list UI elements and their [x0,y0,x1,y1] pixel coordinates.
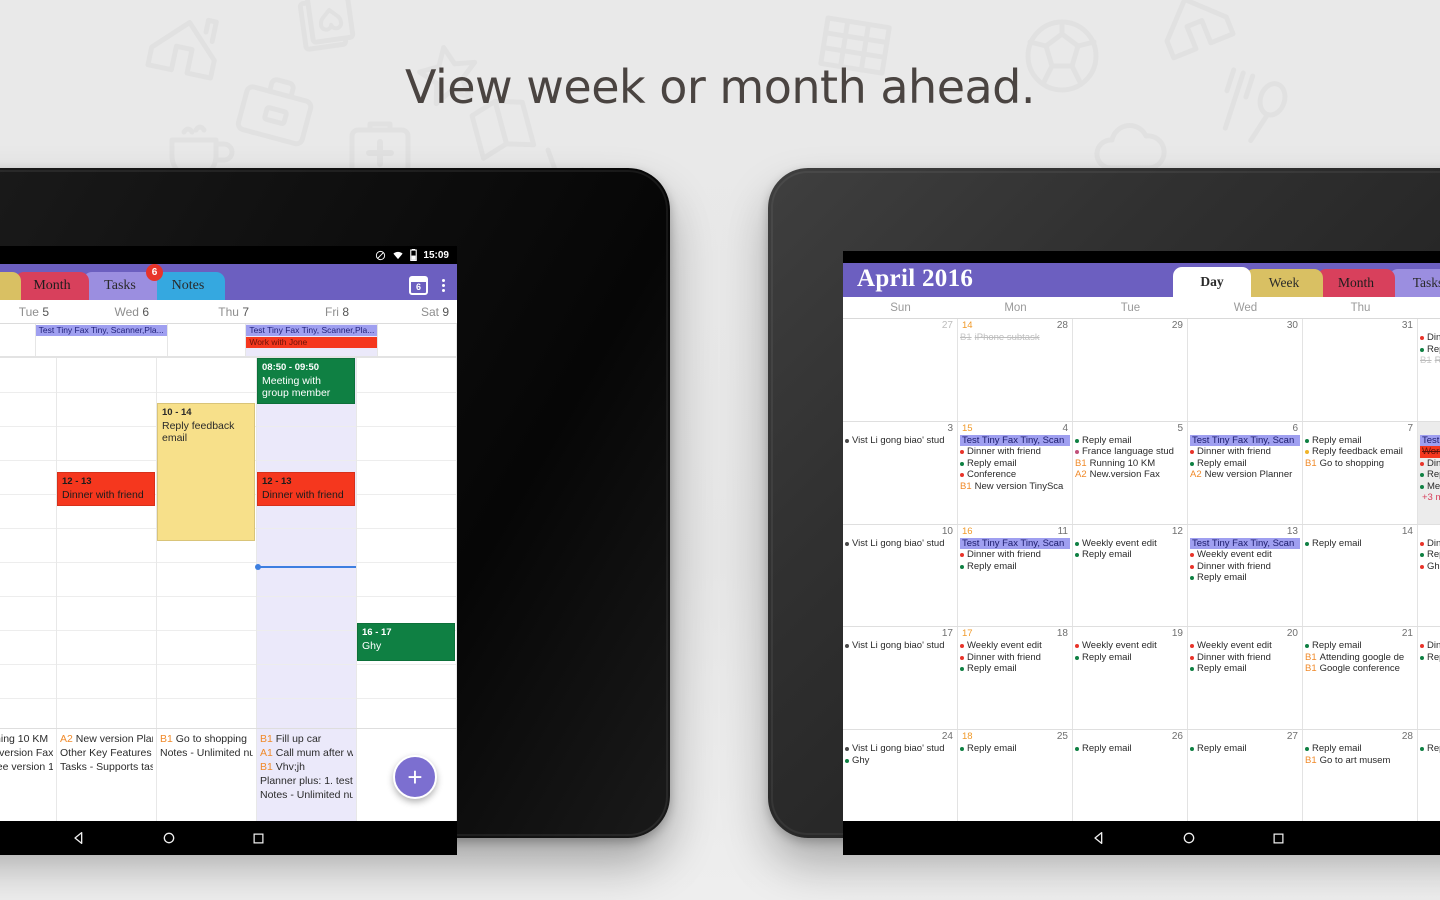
task-text: Go to shopping [176,733,247,745]
calendar-event[interactable]: 16 - 17Ghy [357,623,455,661]
task-item[interactable]: About free version 1. Witho [0,760,53,774]
task-item[interactable]: Planner plus: 1. testing ca [260,774,353,788]
calendar-event[interactable]: 12 - 13Dinner with friend [57,472,155,506]
task-text: New.version Fax [0,747,53,759]
month-event-item[interactable]: Weekly event edit [1190,549,1300,561]
month-event-item[interactable]: Reply email [1420,652,1440,664]
event-color-dot [1420,485,1424,489]
tab-day[interactable]: Day [1173,267,1251,297]
month-day-number: 18 [1057,628,1070,639]
month-day-number: 25 [1057,731,1070,742]
month-grid[interactable]: 271428B1iPhone subtask2930311Dinner with… [843,319,1440,821]
recents-icon[interactable] [1271,831,1286,846]
month-event-item[interactable]: Reply email [1305,435,1415,447]
event-color-dot [1075,439,1079,443]
month-day-cell[interactable]: 24Vist Li gong biao' studGhy [843,730,958,821]
month-event-item[interactable]: Reply email [1075,435,1185,447]
item-text: Meeting with group m [1427,481,1440,493]
item-text: France language stud [1082,446,1174,458]
month-day-header: 19 [1075,628,1185,640]
right-tablet-device: April 2016 Day Week Month Tasks 6 Notes … [768,168,1440,838]
month-day-cell[interactable]: 1718Weekly event editDinner with friendR… [958,627,1073,729]
month-event-item[interactable]: France language stud [1075,446,1185,458]
event-title: Meeting with group member [262,375,330,400]
month-event-item[interactable]: Vist Li gong biao' stud [845,640,955,652]
month-day-cell[interactable]: 12Weekly event editReply email [1073,525,1188,627]
tab-month[interactable]: Month [15,272,89,300]
calendar-event[interactable]: 12 - 13Dinner with friend [257,472,355,506]
month-day-cell[interactable]: 3Vist Li gong biao' stud [843,422,958,524]
month-event-item[interactable]: Reply email [960,663,1070,675]
month-event-item[interactable]: Dinner with friend [960,652,1070,664]
task-item[interactable]: B1 Vhv;jh [260,760,353,774]
month-week-row: 10Vist Li gong biao' stud1611Test Tiny F… [843,525,1440,628]
task-item[interactable]: Tasks - Supports tasks an [60,760,153,774]
month-day-cell[interactable]: 20Weekly event editDinner with friendRep… [1188,627,1303,729]
task-priority: B1 [1075,458,1087,470]
page-title: View week or month ahead. [0,60,1440,114]
event-color-dot [1190,656,1194,660]
allday-event-chip[interactable]: Test Tiny Fax Tiny, Scanner,Pla... [246,325,377,336]
month-event-item[interactable]: Reply email [1305,538,1415,550]
month-day-number: 12 [1172,526,1185,537]
event-time: 12 - 13 [262,476,350,489]
month-event-item[interactable]: Reply email [1190,663,1300,675]
event-color-dot [1075,553,1079,557]
month-event-item[interactable]: Dinner with friend [1420,458,1440,470]
month-day-number: 6 [1292,423,1300,434]
month-event-item[interactable]: Vist Li gong biao' stud [845,435,955,447]
hour-gridlines [57,358,156,728]
task-priority: A2 [60,733,73,745]
task-text: New version Planner [76,733,153,745]
month-event-item[interactable]: Dinner with friend [1420,538,1440,550]
day-task-cell[interactable]: B1 Go to shoppingNotes - Unlimited numbe… [157,729,257,821]
event-color-dot [1190,450,1194,454]
item-text: Test Tiny Fax Tiny, Scan [962,435,1064,447]
item-text: New.version Fax [1090,469,1160,481]
month-day-number: 14 [1402,526,1415,537]
day-task-cell[interactable]: A2 New version PlannerOther Key Features… [57,729,157,821]
task-priority: B1 [1305,663,1317,675]
month-day-cell[interactable]: 19Weekly event editReply email [1073,627,1188,729]
month-day-header: 1611 [960,526,1070,538]
month-event-item[interactable]: Reply email [1075,549,1185,561]
week-day-number: 6 [142,305,149,319]
item-text: Reply email [1197,572,1247,584]
home-icon[interactable] [161,830,177,846]
month-event-item[interactable]: Reply email [1075,652,1185,664]
task-priority: B1 [160,733,173,745]
item-text: Go to art musem [1320,755,1391,767]
hour-gridlines [357,358,456,728]
item-text: Dinner with friend [967,446,1041,458]
week-day-column[interactable]: 12 - 13Dinner with friend [57,358,157,728]
event-time: 12 - 13 [62,476,150,489]
wifi-icon [392,250,404,261]
month-day-header: 154 [960,423,1070,435]
month-day-number: 30 [1287,320,1300,331]
week-day-number: 5 [42,305,49,319]
task-priority: B1 [1305,458,1317,470]
allday-cell[interactable] [168,324,247,356]
task-text: Tasks - Supports tasks an [60,761,153,773]
month-event-item[interactable]: Weekly event edit [1075,538,1185,550]
month-task-item[interactable]: A2New version Planner [1190,469,1300,481]
month-event-item[interactable]: Reply email [1075,743,1185,755]
month-day-header: 15 [1420,526,1440,538]
month-day-cell[interactable]: 28Reply emailB1Go to art musem [1303,730,1418,821]
task-item[interactable]: A2 New.version Fax [0,746,53,760]
week-time-grid[interactable]: 15:30 - 16:30France language study12 - 1… [0,358,457,728]
event-color-dot [1075,656,1079,660]
month-event-item[interactable]: Dinner with friend [1420,640,1440,652]
day-task-cell[interactable]: B1 Fill up carA1 Call mum after work.B1 … [257,729,357,821]
task-item[interactable]: B1 Go to shopping [160,732,253,746]
event-color-dot [1420,553,1424,557]
month-event-item[interactable]: Test Tiny Fax Tiny, Scan [1190,538,1300,550]
month-event-item[interactable]: Dinner with friend [1190,561,1300,573]
month-day-number: 10 [942,526,955,537]
tab-tasks[interactable]: Tasks 6 [83,272,157,300]
week-day-name: Tue [19,305,43,319]
month-day-cell[interactable]: 5Reply emailFrance language studB1Runnin… [1073,422,1188,524]
allday-event-chip[interactable]: Test Tiny Fax Tiny, Scanner,Pla... [36,325,167,336]
month-day-number: 7 [1407,423,1415,434]
tab-month[interactable]: Month [1317,269,1395,297]
overflow-menu-icon[interactable] [442,279,445,292]
week-day-header[interactable]: Fri 8 [257,300,357,323]
week-day-header[interactable]: Tue 5 [0,300,57,323]
month-day-cell[interactable]: 154Test Tiny Fax Tiny, ScanDinner with f… [958,422,1073,524]
left-tabbar: Day Week Month Tasks 6 Notes [0,264,219,300]
item-text: Reply email [1082,652,1132,664]
event-title: Dinner with friend [262,489,344,501]
event-color-dot [1420,565,1424,569]
today-calendar-icon[interactable]: 6 [409,276,428,295]
month-day-cell[interactable]: 7Reply emailReply feedback emailB1Go to … [1303,422,1418,524]
month-day-cell[interactable]: 14Reply email [1303,525,1418,627]
week-day-header[interactable]: Thu 7 [157,300,257,323]
month-day-header: 21 [1305,628,1415,640]
month-day-header: 27 [1190,731,1300,743]
tab-week[interactable]: Week [1245,269,1323,297]
month-event-item[interactable]: Dinner with friend [1190,446,1300,458]
left-toolbar: Day Week Month Tasks 6 Notes 6 [0,264,457,300]
month-task-item[interactable]: B1Go to art musem [1305,755,1415,767]
task-item[interactable]: A1 Call mum after work. [260,746,353,760]
month-task-item[interactable]: B1Attending google de [1305,652,1415,664]
month-day-cell[interactable]: 21Reply emailB1Attending google deB1Goog… [1303,627,1418,729]
item-text: Dinner with friend [1427,458,1440,470]
month-weekday-label: Wed [1188,297,1303,318]
left-tablet-device: 15:09 Day Week Month Tasks 6 Notes 6 Mon… [0,168,670,838]
month-event-item[interactable]: Reply email [960,743,1070,755]
item-text: New version Planner [1205,469,1293,481]
month-weekday-header: SunMonTueWedThuFri [843,297,1440,319]
month-event-item[interactable]: Test Tiny Fax Tiny, Scan [960,538,1070,550]
month-day-header: 3 [845,423,955,435]
month-event-item[interactable]: Gh [1420,561,1440,573]
allday-cell[interactable] [378,324,457,356]
week-day-number: 8 [342,305,349,319]
month-day-cell[interactable]: 1611Test Tiny Fax Tiny, ScanDinner with … [958,525,1073,627]
month-day-cell[interactable]: 26Reply email [1073,730,1188,821]
month-weekday-label: Fri [1418,297,1440,318]
month-event-item[interactable]: Reply feedback email [1305,446,1415,458]
task-item[interactable]: Notes - Unlimited number [160,746,253,760]
month-week-row: 271428B1iPhone subtask2930311Dinner with… [843,319,1440,422]
month-task-item[interactable]: B1Google conference [1305,663,1415,675]
item-text: Test Tiny Fax Tiny, Scan [1192,435,1294,447]
month-event-item[interactable]: Vist Li gong biao' stud [845,538,955,550]
month-day-cell[interactable]: 29Reply email [1418,730,1440,821]
month-event-item[interactable]: Reply email [1190,458,1300,470]
item-text: Weekly event edit [1082,538,1157,550]
item-text: Attending google de [1320,652,1405,664]
event-time: 16 - 17 [362,627,450,640]
month-event-item[interactable]: Dinner with friend [960,549,1070,561]
month-day-cell[interactable]: 17Vist Li gong biao' stud [843,627,958,729]
event-color-dot [1075,747,1079,751]
month-day-header: 5 [1075,423,1185,435]
month-task-item[interactable]: B1Running 10 KM [1075,458,1185,470]
item-text: Work with Jone [1422,446,1440,458]
month-event-item[interactable]: Test Tiny Fax Tiny, Scan [1420,435,1440,447]
item-text: Go to shopping [1320,458,1384,470]
week-day-column[interactable]: 10 - 14Reply feedback email [157,358,257,728]
statusbar-clock: 15:09 [423,250,449,261]
event-time: 08:50 - 09:50 [262,362,350,375]
lunar-day-number: 15 [962,423,973,434]
month-day-number: 26 [1172,731,1185,742]
day-task-cell[interactable]: B1 Running 10 KMA2 New.version FaxAbout … [0,729,57,821]
item-text: Gh [1427,561,1440,573]
month-event-item[interactable]: Meeting with group m [1420,481,1440,493]
task-item[interactable]: Notes - Unlimited number [260,788,353,802]
month-day-cell[interactable]: 27Reply email [1188,730,1303,821]
back-icon[interactable] [71,830,87,846]
tab-month-label: Month [33,278,70,294]
month-day-number: 4 [1062,423,1070,434]
month-day-cell[interactable]: 1825Reply email [958,730,1073,821]
month-day-cell[interactable]: 29 [1073,319,1188,421]
item-text: Reply email [1312,538,1362,550]
event-color-dot [1190,667,1194,671]
month-event-item[interactable]: Reply email [1305,640,1415,652]
task-item[interactable]: Other Key Features - Day, [60,746,153,760]
item-text: Dinner with friend [1197,652,1271,664]
event-color-dot [1075,450,1079,454]
item-text: Vist Li gong biao' stud [852,640,944,652]
month-day-header: 27 [845,320,955,332]
week-day-header[interactable]: Wed 6 [57,300,157,323]
month-event-item[interactable]: Weekly event edit [1190,640,1300,652]
allday-cell[interactable] [0,324,36,356]
task-priority: B1 [260,733,273,745]
item-text: Dinner with friend [967,549,1041,561]
tab-tasks-label: Tasks [1413,275,1440,291]
left-tablet-screen: 15:09 Day Week Month Tasks 6 Notes 6 Mon… [0,246,457,821]
allday-cell[interactable]: Test Tiny Fax Tiny, Scanner,Pla...Work w… [246,324,378,356]
month-event-item[interactable]: Ghy [845,755,955,767]
item-text: Dinner with friend [1427,640,1440,652]
lunar-day-number: 18 [962,731,973,742]
month-event-item[interactable]: Reply email [960,458,1070,470]
item-text: Reply email [1312,640,1362,652]
month-day-number: 13 [1287,526,1300,537]
month-day-cell[interactable]: 15Dinner with friendReply emailGh [1418,525,1440,627]
lunar-day-number: 17 [962,628,973,639]
event-color-dot [1305,439,1309,443]
month-task-item[interactable]: B1Go to shopping [1305,458,1415,470]
item-text: Weekly event edit [1197,640,1272,652]
item-text: Reply email [967,561,1017,573]
tab-week[interactable]: Week [0,272,21,300]
event-color-dot [1075,644,1079,648]
allday-cell[interactable]: Test Tiny Fax Tiny, Scanner,Pla... [36,324,168,356]
task-priority: A2 [1190,469,1202,481]
item-text: Reply email [1427,344,1440,356]
week-day-column[interactable]: 16 - 17Ghy [357,358,457,728]
tab-tasks[interactable]: Tasks 6 [1389,269,1440,297]
month-event-item[interactable]: Reply email [1190,743,1300,755]
month-day-header: 29 [1075,320,1185,332]
event-color-dot [1420,348,1424,352]
calendar-event[interactable]: 10 - 14Reply feedback email [157,403,255,541]
month-day-header: 1825 [960,731,1070,743]
month-event-item[interactable]: Reply email [1305,743,1415,755]
month-event-item[interactable]: Reply email [1190,572,1300,584]
month-day-header: 20 [1190,628,1300,640]
month-day-cell[interactable]: 22Dinner with friendReply email [1418,627,1440,729]
task-text: Fill up car [276,733,322,745]
task-item[interactable]: B1 Running 10 KM [0,732,53,746]
week-day-number: 9 [442,305,449,319]
item-text: Reply email [1197,663,1247,675]
month-event-item[interactable]: Reply email [1420,549,1440,561]
right-tablet-screen: April 2016 Day Week Month Tasks 6 Notes … [843,251,1440,821]
month-event-item[interactable]: Dinner with friend [1420,332,1440,344]
month-day-cell[interactable]: 13Test Tiny Fax Tiny, ScanWeekly event e… [1188,525,1303,627]
month-event-item[interactable]: Work with Jone [1420,446,1440,458]
event-color-dot [1420,656,1424,660]
recents-icon[interactable] [251,831,266,846]
do-not-disturb-icon [375,250,386,261]
month-event-item[interactable]: Reply email [1420,469,1440,481]
current-time-indicator [257,566,356,568]
week-day-column[interactable] [0,358,57,728]
event-color-dot [960,553,964,557]
week-day-name: Fri [325,305,342,319]
month-event-item[interactable]: Weekly event edit [1075,640,1185,652]
month-task-item[interactable]: B1New version TinySca [960,481,1070,493]
month-day-cell[interactable]: 6Test Tiny Fax Tiny, ScanDinner with fri… [1188,422,1303,524]
tasks-badge: 6 [146,264,163,281]
month-day-number: 20 [1287,628,1300,639]
item-text: Reply email [967,458,1017,470]
task-priority: B1 [260,761,273,773]
item-text: Test Tiny Fax Tiny, Scan [1192,538,1294,550]
month-event-item[interactable]: Reply email [960,561,1070,573]
event-color-dot [1305,747,1309,751]
month-day-header: 10 [845,526,955,538]
month-day-number: 28 [1402,731,1415,742]
item-text: Reply email [967,663,1017,675]
month-event-item[interactable]: Weekly event edit [960,640,1070,652]
month-event-item[interactable]: Dinner with friend [960,446,1070,458]
month-event-item[interactable]: Vist Li gong biao' stud [845,743,955,755]
month-task-item[interactable]: A2New.version Fax [1075,469,1185,481]
month-event-item[interactable]: Dinner with friend [1190,652,1300,664]
calendar-event[interactable]: 08:50 - 09:50Meeting with group member [257,358,355,404]
month-day-header: 8 [1420,423,1440,435]
item-text: iPhone subtask [975,332,1040,344]
month-event-item[interactable]: Test Tiny Fax Tiny, Scan [1190,435,1300,447]
tab-month-label: Month [1338,275,1374,291]
item-text: Google conference [1320,663,1400,675]
event-color-dot [1420,336,1424,340]
item-text: Vist Li gong biao' stud [852,435,944,447]
task-item[interactable]: B1 Fill up car [260,732,353,746]
event-color-dot [1420,542,1424,546]
week-day-column[interactable]: 08:50 - 09:50Meeting with group member12… [257,358,357,728]
month-event-item[interactable]: Reply email [1420,743,1440,755]
month-task-item[interactable]: B1iPhone subtask [960,332,1070,344]
event-color-dot [1190,462,1194,466]
more-events-link[interactable]: +3 more [1420,492,1440,503]
add-event-fab[interactable]: + [393,755,437,799]
month-day-cell[interactable]: 30 [1188,319,1303,421]
task-priority: B1 [1305,755,1317,767]
allday-event-chip[interactable]: Work with Jone [246,337,377,348]
event-title: Reply feedback email [162,420,234,445]
month-day-cell[interactable]: 31 [1303,319,1418,421]
month-day-header: 1428 [960,320,1070,332]
month-day-header: 28 [1305,731,1415,743]
month-day-cell[interactable]: 1428B1iPhone subtask [958,319,1073,421]
month-day-cell[interactable]: 27 [843,319,958,421]
week-day-number: 7 [242,305,249,319]
item-text: Dinner with friend [967,652,1041,664]
month-event-item[interactable]: Conference [960,469,1070,481]
month-day-header: 14 [1305,526,1415,538]
month-week-row: 3Vist Li gong biao' stud154Test Tiny Fax… [843,422,1440,525]
month-day-cell[interactable]: 10Vist Li gong biao' stud [843,525,958,627]
week-day-header[interactable]: Sat 9 [357,300,457,323]
month-event-item[interactable]: Reply email [1420,344,1440,356]
month-day-cell[interactable]: 8Test Tiny Fax Tiny, ScanWork with JoneD… [1418,422,1440,524]
month-day-number: 11 [1058,526,1070,537]
back-icon[interactable] [1091,830,1107,846]
right-statusbar [843,251,1440,263]
month-day-number: 19 [1172,628,1185,639]
left-toolbar-actions: 6 [409,276,457,300]
month-title: April 2016 [843,263,973,297]
month-task-item[interactable]: B1Redesign recurring t [1420,355,1440,367]
tab-day-label: Day [1200,274,1223,290]
home-icon[interactable] [1181,830,1197,846]
month-day-header: 1 [1420,320,1440,332]
month-day-number: 21 [1402,628,1415,639]
month-day-cell[interactable]: 1Dinner with friendReply emailB1Redesign… [1418,319,1440,421]
item-text: Dinner with friend [1427,538,1440,550]
lunar-day-number: 14 [962,320,973,331]
month-event-item[interactable]: Test Tiny Fax Tiny, Scan [960,435,1070,447]
task-item[interactable]: A2 New version Planner [60,732,153,746]
task-text: About free version 1. Witho [0,761,53,773]
month-weekday-label: Mon [958,297,1073,318]
